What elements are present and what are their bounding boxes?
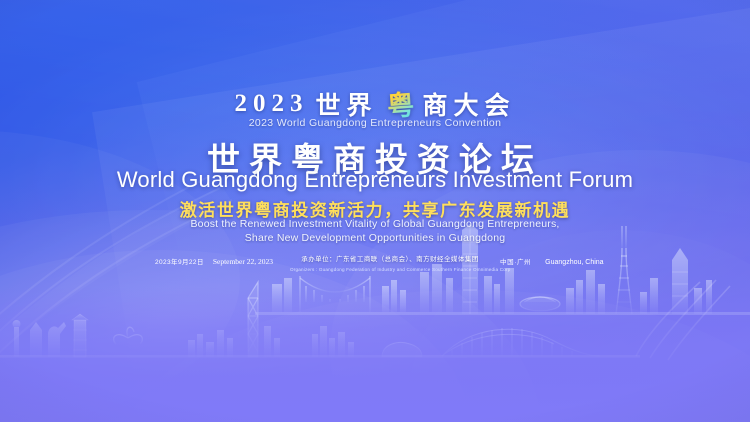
kicker-english: 2023 World Guangdong Entrepreneurs Conve… [0,117,750,129]
slogan-english: Boost the Renewed Investment Vitality of… [0,218,750,245]
forum-title-english: World Guangdong Entrepreneurs Investment… [0,167,750,193]
event-info-bar: 2023年9月22日 September 22, 2023 承办单位：广东省工商… [0,256,750,274]
event-location: 中国·广州 Guangzhou, China [500,256,680,266]
slogan-english-line2: Share New Development Opportunities in G… [0,232,750,246]
organizer-english: Organizers : Guangdong Federation of Ind… [290,266,490,273]
organizer-chinese: 承办单位：广东省工商联（总商会）、南方财经全媒体集团 [290,256,490,265]
kicker-year: 2023 [234,90,308,118]
poster-content: 2023 世界 粤 商大会 2023 World Guangdong Entre… [0,0,750,422]
event-date: 2023年9月22日 September 22, 2023 [155,256,305,266]
location-chinese: 中国·广州 [500,256,531,266]
location-english: Guangzhou, China [545,259,603,266]
event-date-english: September 22, 2023 [213,257,273,266]
slogan-english-line1: Boost the Renewed Investment Vitality of… [0,218,750,232]
event-organizer: 承办单位：广东省工商联（总商会）、南方财经全媒体集团 Organizers : … [290,256,490,273]
event-poster: 2023 世界 粤 商大会 2023 World Guangdong Entre… [0,0,750,422]
event-date-chinese: 2023年9月22日 [155,256,204,266]
